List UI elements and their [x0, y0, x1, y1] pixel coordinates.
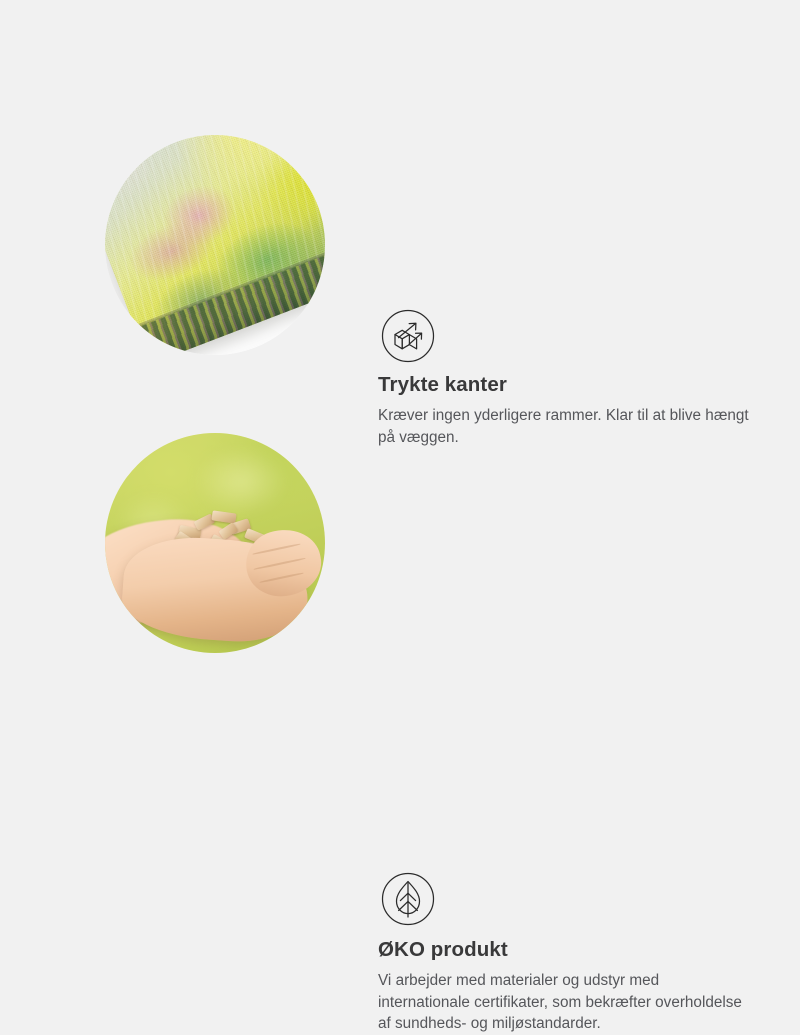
canvas-wrapped-edge-icon	[378, 306, 438, 366]
hands-holding-wood-chips-photo	[105, 433, 325, 653]
feature-block-printed-edges: Trykte kanter Kræver ingen yderligere ra…	[0, 135, 800, 365]
feature-description-eco-product: Vi arbejder med materialer og udstyr med…	[378, 970, 750, 1035]
product-features-panel: Trykte kanter Kræver ingen yderligere ra…	[0, 0, 800, 800]
feature-title-eco-product: ØKO produkt	[378, 938, 508, 962]
feature-title-printed-edges: Trykte kanter	[378, 373, 507, 397]
wood-photo-background	[105, 433, 325, 653]
canvas-photo-background	[105, 135, 325, 355]
canvas-print-corner-photo	[105, 135, 325, 355]
leaf-icon	[378, 869, 438, 929]
feature-block-eco-product: ØKO produkt Vi arbejder med materialer o…	[0, 433, 800, 663]
